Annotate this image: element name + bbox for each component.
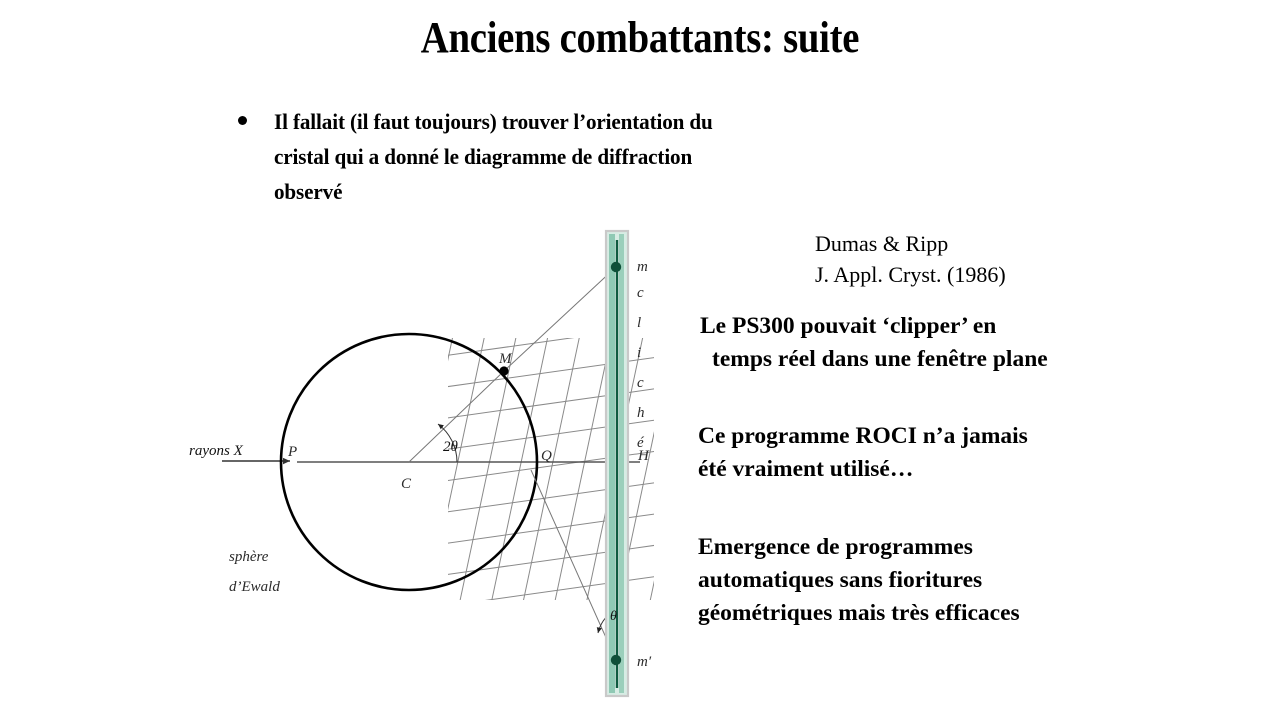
figure-label-H: H [637,448,650,464]
page-title: Anciens combattants: suite [77,12,1203,64]
svg-text:c: c [637,285,644,301]
svg-text:i: i [637,345,641,361]
figure-label-m: m [637,259,648,275]
svg-text:h: h [637,405,645,421]
note-emergence-line-1: Emergence de programmes [698,531,1178,564]
figure-label-sphere-line1: sphère [229,549,269,565]
film-strip [606,231,628,696]
figure-label-rayons-x: rayons X [189,443,244,459]
figure-label-C: C [401,476,412,492]
figure-label-two-theta: 2θ [443,439,459,455]
spot-M [499,366,508,375]
ray-Q-mprime [531,470,616,660]
note-emergence: Emergence de programmes automatiques san… [698,531,1178,630]
note-roci: Ce programme ROCI n’a jamais été vraimen… [698,420,1178,486]
film-strip-vertical-label: c l i c h é [637,285,645,451]
figure-label-theta: θ [610,609,617,624]
reference-line-1: Dumas & Ripp [815,228,1006,259]
svg-text:l: l [637,315,641,331]
note-emergence-line-2: automatiques sans fioritures [698,564,1178,597]
figure-label-Q: Q [541,448,552,464]
svg-text:é: é [637,435,645,451]
spot-m [611,262,621,272]
scattered-ray-CM [409,371,504,462]
note-ps300-line-1: Le PS300 pouvait ‘clipper’ en [700,310,1190,343]
reference-line-2: J. Appl. Cryst. (1986) [815,259,1006,290]
reference-citation: Dumas & Ripp J. Appl. Cryst. (1986) [815,228,1006,290]
note-roci-line-1: Ce programme ROCI n’a jamais [698,420,1178,453]
figure-label-sphere-line2: d’Ewald [229,579,280,595]
note-roci-line-2: été vraiment utilisé… [698,453,1178,486]
ewald-sphere-circle [281,334,537,590]
note-emergence-line-3: géométriques mais très efficaces [698,597,1178,630]
note-ps300: Le PS300 pouvait ‘clipper’ en temps réel… [700,310,1190,376]
scattered-ray-Mm [504,267,616,371]
svg-text:c: c [637,375,644,391]
two-theta-arc [438,424,457,462]
bullet-dot-icon [238,116,247,125]
figure-label-m-prime: m′ [637,654,652,670]
figure-label-P: P [287,444,297,460]
bullet-item-text: Il fallait (il faut toujours) trouver l’… [274,104,716,209]
reciprocal-lattice-grid [384,278,740,672]
spot-m-prime [611,655,621,665]
note-ps300-line-2: temps réel dans une fenêtre plane [700,343,1190,376]
figure-label-M: M [498,351,513,367]
theta-arc [598,611,613,633]
bullet-line-2: cristal qui a donné le diagramme de diff… [274,139,716,209]
slide-canvas: rayons X P C Q M H m m′ 2θ θ sphère d’Ew… [0,0,1280,720]
bullet-line-1: Il fallait (il faut toujours) trouver l’… [274,104,716,139]
